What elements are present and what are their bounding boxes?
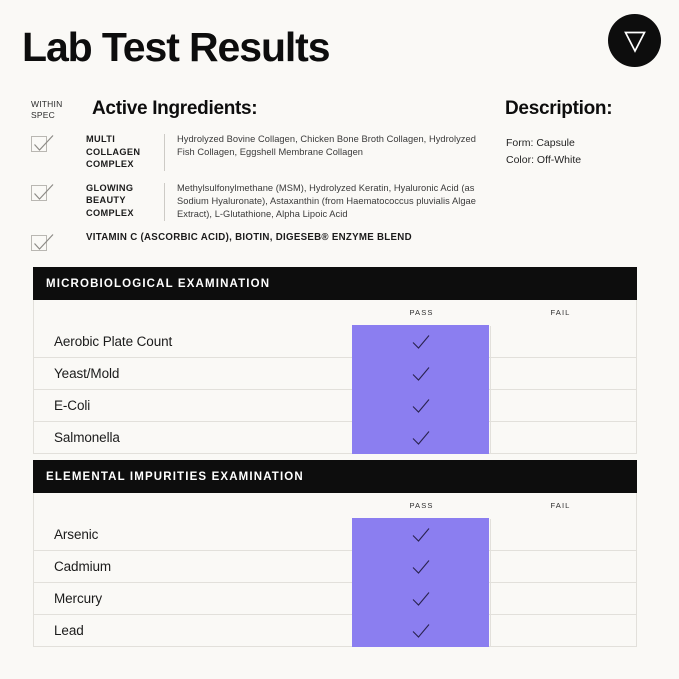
column-header-pass: PASS (353, 308, 490, 317)
pass-cell (352, 518, 489, 551)
test-name: Salmonella (54, 422, 120, 453)
table-column-header-row: PASS FAIL (33, 300, 637, 326)
fail-cell-divider (490, 358, 491, 389)
test-name: Lead (54, 615, 84, 646)
test-name: Cadmium (54, 551, 111, 582)
pass-cell (352, 614, 489, 647)
ingredient-detail: Methylsulfonylmethane (MSM), Hydrolyzed … (177, 182, 491, 221)
checkbox-checked-icon (31, 233, 50, 252)
ingredient-row: MULTI COLLAGEN COMPLEX Hydrolyzed Bovine… (31, 133, 491, 171)
test-name: E-Coli (54, 390, 90, 421)
test-name: Mercury (54, 583, 102, 614)
pass-cell (352, 357, 489, 390)
fail-cell-divider (490, 551, 491, 582)
test-name: Yeast/Mold (54, 358, 119, 389)
checkbox-checked-icon (31, 134, 50, 153)
fail-cell-divider (490, 615, 491, 646)
table-row: Cadmium (33, 551, 637, 583)
column-header-pass: PASS (353, 501, 490, 510)
pass-cell (352, 582, 489, 615)
ingredient-detail: Hydrolyzed Bovine Collagen, Chicken Bone… (177, 133, 491, 159)
table-row: Aerobic Plate Count (33, 326, 637, 358)
within-spec-line2: SPEC (31, 110, 62, 121)
ingredient-name: MULTI COLLAGEN COMPLEX (86, 133, 153, 171)
table-row: Mercury (33, 583, 637, 615)
table-row: Yeast/Mold (33, 358, 637, 390)
lab-test-results-document: Lab Test Results WITHIN SPEC Active Ingr… (0, 0, 679, 679)
table-row: Arsenic (33, 519, 637, 551)
description-details: Form: Capsule Color: Off-White (506, 135, 581, 169)
pass-cell (352, 421, 489, 454)
active-ingredients-heading: Active Ingredients: (92, 98, 257, 120)
ingredient-row: VITAMIN C (ASCORBIC ACID), BIOTIN, DIGES… (31, 232, 491, 252)
column-header-fail: FAIL (492, 308, 629, 317)
pass-cell (352, 389, 489, 422)
description-heading: Description: (505, 98, 612, 120)
ingredient-name: GLOWING BEAUTY COMPLEX (86, 182, 153, 220)
pass-cell (352, 550, 489, 583)
within-spec-label: WITHIN SPEC (31, 99, 62, 120)
fail-cell-divider (490, 583, 491, 614)
table-row: E-Coli (33, 390, 637, 422)
table-heading: ELEMENTAL IMPURITIES EXAMINATION (33, 460, 637, 493)
pass-cell (352, 325, 489, 358)
fail-cell-divider (490, 326, 491, 357)
ingredient-divider (164, 183, 165, 221)
fail-cell-divider (490, 390, 491, 421)
table-row: Salmonella (33, 422, 637, 454)
test-name: Arsenic (54, 519, 98, 550)
description-form: Form: Capsule (506, 135, 581, 152)
test-name: Aerobic Plate Count (54, 326, 172, 357)
ingredient-name: VITAMIN C (ASCORBIC ACID), BIOTIN, DIGES… (86, 232, 412, 245)
table-row: Lead (33, 615, 637, 647)
description-color: Color: Off-White (506, 152, 581, 169)
ingredient-divider (164, 134, 165, 171)
ingredient-row: GLOWING BEAUTY COMPLEX Methylsulfonylmet… (31, 182, 491, 221)
triangle-down-logo-icon (608, 14, 661, 67)
within-spec-line1: WITHIN (31, 99, 62, 110)
table-column-header-row: PASS FAIL (33, 493, 637, 519)
active-ingredients-list: MULTI COLLAGEN COMPLEX Hydrolyzed Bovine… (31, 133, 491, 263)
checkbox-checked-icon (31, 183, 50, 202)
table-heading: MICROBIOLOGICAL EXAMINATION (33, 267, 637, 300)
page-title: Lab Test Results (22, 27, 329, 68)
column-header-fail: FAIL (492, 501, 629, 510)
fail-cell-divider (490, 422, 491, 453)
microbiological-examination-table: MICROBIOLOGICAL EXAMINATION PASS FAIL Ae… (33, 267, 637, 454)
elemental-impurities-examination-table: ELEMENTAL IMPURITIES EXAMINATION PASS FA… (33, 460, 637, 647)
fail-cell-divider (490, 519, 491, 550)
